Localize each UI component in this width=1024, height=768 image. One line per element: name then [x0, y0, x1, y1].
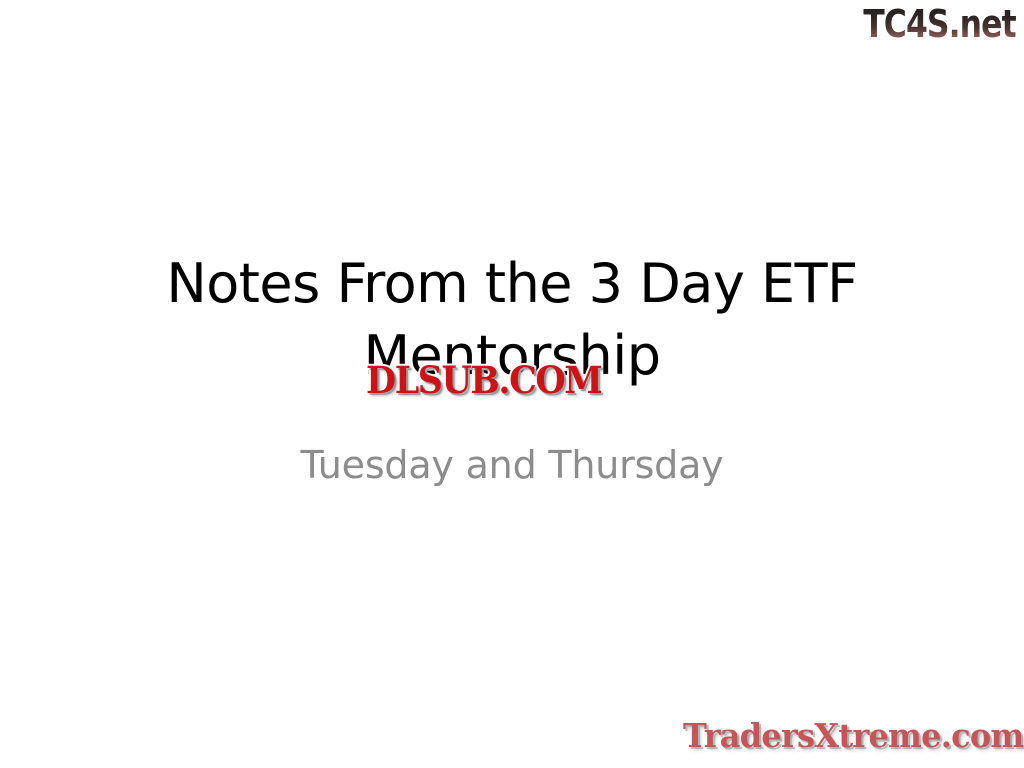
slide-title-line-1: Notes From the 3 Day ETF [120, 248, 904, 320]
slide-subtitle: Tuesday and Thursday [120, 440, 904, 490]
tc4s-site-logo: TC4S.net [864, 2, 1016, 46]
presentation-slide: TC4S.net Notes From the 3 Day ETF Mentor… [0, 0, 1024, 768]
tradersxtreme-site-logo: TradersXtreme.com [683, 714, 1023, 758]
dlsub-watermark: DLSUB.COM [366, 358, 601, 402]
